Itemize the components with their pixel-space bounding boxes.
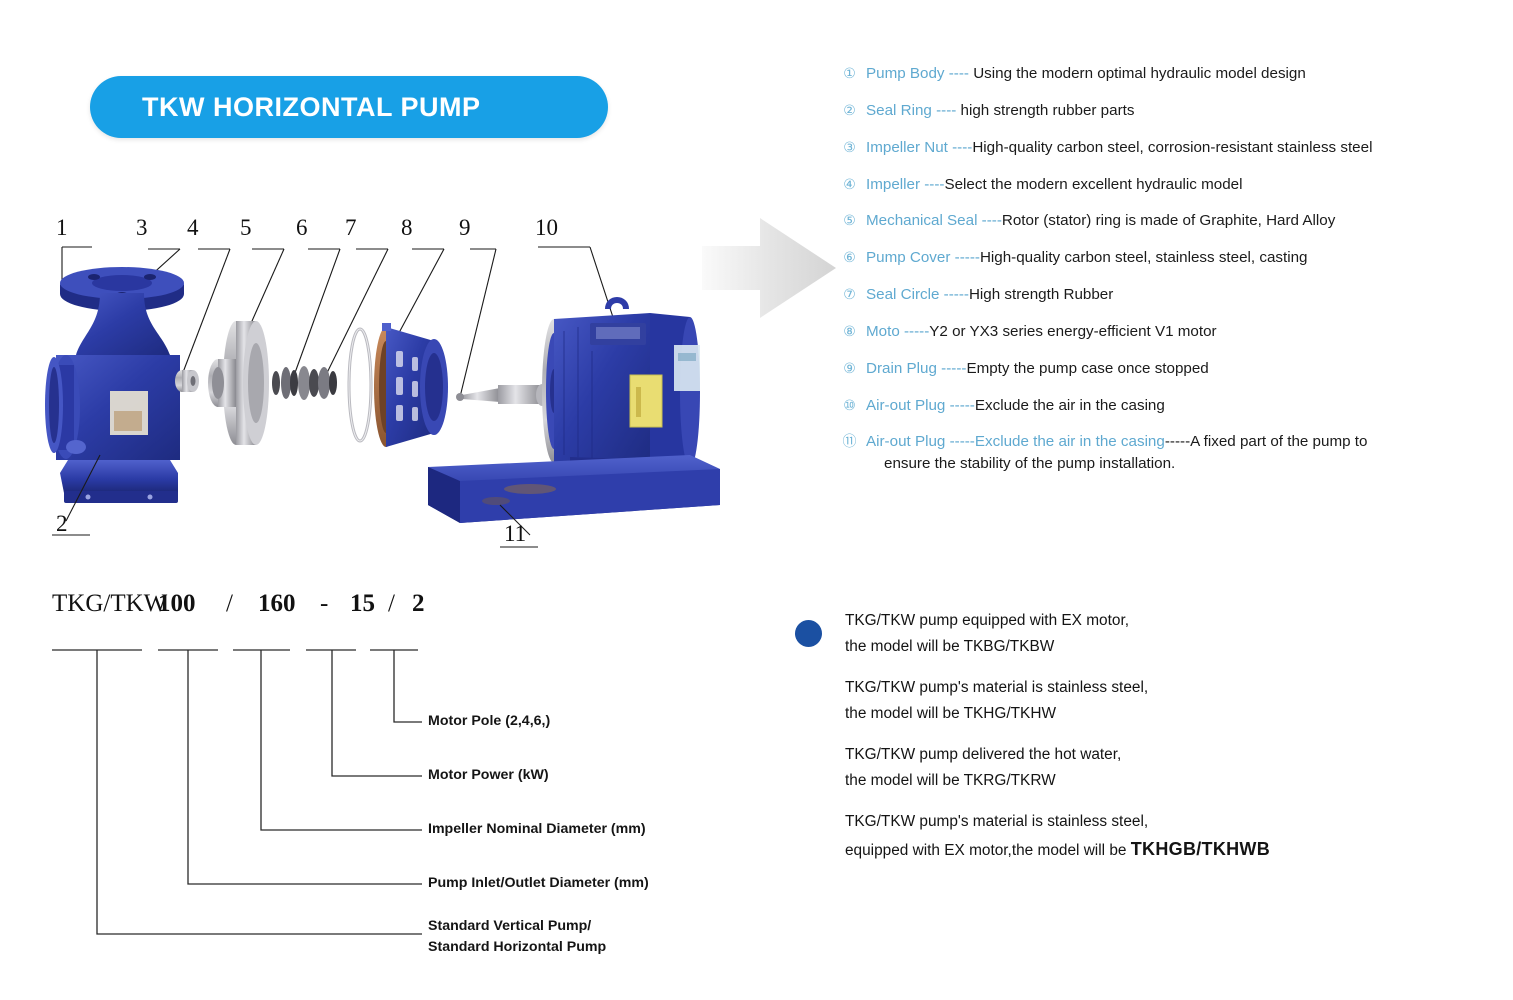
- legend-part-name: Impeller: [866, 176, 920, 193]
- legend-description: Exclude the air in the casing: [975, 397, 1165, 414]
- legend-item-9: ⑨Drain Plug -----Empty the pump case onc…: [840, 359, 1500, 378]
- legend-number-icon: ⑧: [840, 322, 859, 340]
- legend-number-icon: ⑪: [840, 432, 859, 450]
- legend-description-line2: ensure the stability of the pump install…: [866, 454, 1500, 473]
- page-title-banner: TKW HORIZONTAL PUMP: [90, 76, 608, 138]
- legend-dash: -----: [945, 433, 975, 450]
- base-plate-part: [428, 455, 720, 523]
- mechanical-seal-stack: [272, 366, 337, 400]
- legend-description: Using the modern optimal hydraulic model…: [973, 65, 1306, 82]
- callout-6: 6: [296, 215, 308, 240]
- bullet-dot-icon: [795, 620, 822, 647]
- legend-item-11: ⑪Air-out Plug -----Exclude the air in th…: [840, 432, 1500, 473]
- legend-number-icon: ④: [840, 175, 859, 193]
- callout-11: 11: [504, 521, 526, 546]
- model-code-segment-2: /: [226, 590, 233, 618]
- note-line-7: TKG/TKW pump's material is stainless ste…: [845, 813, 1435, 831]
- callout-7: 7: [345, 215, 357, 240]
- legend-description: -----A fixed part of the pump to: [1165, 433, 1368, 450]
- legend-item-10: ⑩Air-out Plug -----Exclude the air in th…: [840, 396, 1500, 415]
- callout-2: 2: [56, 511, 68, 536]
- model-label-motor-power: Motor Power (kW): [428, 766, 549, 785]
- legend-item-text: Moto -----Y2 or YX3 series energy-effici…: [866, 322, 1500, 341]
- legend-part-name: Moto: [866, 323, 900, 340]
- legend-number-icon: ⑥: [840, 248, 859, 266]
- legend-part-name: Mechanical Seal: [866, 212, 977, 229]
- legend-part-name: Seal Circle: [866, 286, 939, 303]
- model-label-standard-pump-line1: Standard Vertical Pump/: [428, 917, 591, 936]
- legend-description: Rotor (stator) ring is made of Graphite,…: [1002, 212, 1335, 229]
- seal-circle-part: [349, 329, 371, 441]
- legend-item-2: ②Seal Ring ---- high strength rubber par…: [840, 101, 1500, 120]
- exploded-pump-diagram: 1 3 4 5 6 7 8 9 10: [30, 205, 720, 565]
- legend-description: High strength Rubber: [969, 286, 1113, 303]
- legend-part-name: Seal Ring: [866, 102, 932, 119]
- legend-item-text: Seal Circle -----High strength Rubber: [866, 285, 1500, 304]
- model-code-segment-4: -: [320, 590, 328, 618]
- legend-dash: ----: [945, 65, 974, 82]
- pump-body-part: [45, 267, 184, 503]
- legend-dash: -----: [945, 397, 975, 414]
- note-line-2: the model will be TKBG/TKBW: [845, 638, 1435, 656]
- motor-shaft-part: [456, 384, 548, 406]
- legend-item-text: Air-out Plug -----Exclude the air in the…: [866, 396, 1500, 415]
- legend-dash: ----: [932, 102, 961, 119]
- note-last-model: TKHGB/TKHWB: [1131, 839, 1270, 859]
- model-designation-diagram: TKG/TKW100/160-15/2 Motor Pole (2,4,6,) …: [30, 590, 750, 970]
- model-leader-lines: [30, 626, 750, 956]
- callout-3: 3: [136, 215, 148, 240]
- model-code-segment-3: 160: [258, 590, 296, 618]
- model-code-segment-1: 100: [158, 590, 196, 618]
- page-title: TKW HORIZONTAL PUMP: [142, 92, 480, 123]
- legend-part-name: Impeller Nut: [866, 139, 948, 156]
- legend-number-icon: ③: [840, 138, 859, 156]
- note-last-prefix: equipped with EX motor,the model will be: [845, 842, 1131, 859]
- motor-part: [542, 300, 700, 477]
- legend-item-7: ⑦Seal Circle -----High strength Rubber: [840, 285, 1500, 304]
- legend-part-name: Pump Cover: [866, 249, 950, 266]
- model-variant-notes: TKG/TKW pump equipped with EX motor,the …: [795, 612, 1435, 883]
- parts-legend-list: ①Pump Body ---- Using the modern optimal…: [840, 64, 1500, 491]
- model-label-motor-pole: Motor Pole (2,4,6,): [428, 712, 550, 731]
- callout-1: 1: [56, 215, 68, 240]
- legend-part-name: Drain Plug: [866, 360, 937, 377]
- legend-item-text: Seal Ring ---- high strength rubber part…: [866, 101, 1500, 120]
- callout-5: 5: [240, 215, 252, 240]
- legend-item-5: ⑤Mechanical Seal ----Rotor (stator) ring…: [840, 211, 1500, 230]
- callout-10: 10: [535, 215, 558, 240]
- legend-item-text: Impeller ----Select the modern excellent…: [866, 175, 1500, 194]
- model-code-segment-7: 2: [412, 590, 425, 618]
- legend-dash: ----: [920, 176, 944, 193]
- model-label-impeller-diameter: Impeller Nominal Diameter (mm): [428, 820, 646, 839]
- flow-arrow-icon: [700, 212, 840, 324]
- legend-dash: -----: [939, 286, 969, 303]
- legend-number-icon: ⑩: [840, 396, 859, 414]
- legend-item-text: Impeller Nut ----High-quality carbon ste…: [866, 138, 1500, 157]
- legend-part-name: Air-out Plug: [866, 433, 945, 450]
- legend-description: High-quality carbon steel, stainless ste…: [980, 249, 1308, 266]
- note-line-1: TKG/TKW pump equipped with EX motor,: [845, 612, 1435, 630]
- pump-cover-part: [374, 323, 448, 447]
- legend-item-3: ③Impeller Nut ----High-quality carbon st…: [840, 138, 1500, 157]
- legend-item-text: Mechanical Seal ----Rotor (stator) ring …: [866, 211, 1500, 230]
- callout-numbers: 1 3 4 5 6 7 8 9 10: [56, 215, 558, 240]
- legend-part-name: Air-out Plug: [866, 397, 945, 414]
- legend-number-icon: ①: [840, 64, 859, 82]
- callout-4: 4: [187, 215, 199, 240]
- legend-dash: -----: [900, 323, 930, 340]
- note-line-3: TKG/TKW pump's material is stainless ste…: [845, 679, 1435, 697]
- legend-description: high strength rubber parts: [961, 102, 1135, 119]
- legend-item-4: ④Impeller ----Select the modern excellen…: [840, 175, 1500, 194]
- legend-dash: ----: [948, 139, 972, 156]
- note-line-5: TKG/TKW pump delivered the hot water,: [845, 746, 1435, 764]
- legend-description: Select the modern excellent hydraulic mo…: [944, 176, 1242, 193]
- legend-description: Y2 or YX3 series energy-efficient V1 mot…: [929, 323, 1216, 340]
- legend-item-text: Drain Plug -----Empty the pump case once…: [866, 359, 1500, 378]
- legend-item-1: ①Pump Body ---- Using the modern optimal…: [840, 64, 1500, 83]
- callout-8: 8: [401, 215, 413, 240]
- model-code-segment-6: /: [388, 590, 395, 618]
- legend-number-icon: ⑨: [840, 359, 859, 377]
- note-line-last: equipped with EX motor,the model will be…: [845, 839, 1435, 860]
- callout-9: 9: [459, 215, 471, 240]
- impeller-nut-part: [175, 370, 199, 392]
- legend-item-text: Pump Cover -----High-quality carbon stee…: [866, 248, 1500, 267]
- legend-number-icon: ②: [840, 101, 859, 119]
- legend-item-6: ⑥Pump Cover -----High-quality carbon ste…: [840, 248, 1500, 267]
- legend-item-8: ⑧ Moto -----Y2 or YX3 series energy-effi…: [840, 322, 1500, 341]
- legend-description: Empty the pump case once stopped: [966, 360, 1208, 377]
- note-line-6: the model will be TKRG/TKRW: [845, 772, 1435, 790]
- legend-dash: ----: [977, 212, 1001, 229]
- notes-body: TKG/TKW pump equipped with EX motor,the …: [845, 612, 1435, 860]
- impeller-part: [208, 321, 269, 445]
- legend-item-text: Air-out Plug -----Exclude the air in the…: [866, 432, 1500, 473]
- legend-dash: -----: [950, 249, 980, 266]
- legend-number-icon: ⑦: [840, 285, 859, 303]
- note-line-4: the model will be TKHG/TKHW: [845, 705, 1435, 723]
- legend-item-text: Pump Body ---- Using the modern optimal …: [866, 64, 1500, 83]
- model-code-segment-5: 15: [350, 590, 375, 618]
- model-label-standard-pump-line2: Standard Horizontal Pump: [428, 938, 606, 957]
- model-code-segment-0: TKG/TKW: [52, 590, 167, 618]
- legend-number-icon: ⑤: [840, 211, 859, 229]
- legend-blue-description: Exclude the air in the casing: [975, 433, 1165, 450]
- legend-part-name: Pump Body: [866, 65, 945, 82]
- model-label-inlet-outlet-diameter: Pump Inlet/Outlet Diameter (mm): [428, 874, 649, 893]
- legend-dash: -----: [937, 360, 967, 377]
- legend-description: High-quality carbon steel, corrosion-res…: [972, 139, 1372, 156]
